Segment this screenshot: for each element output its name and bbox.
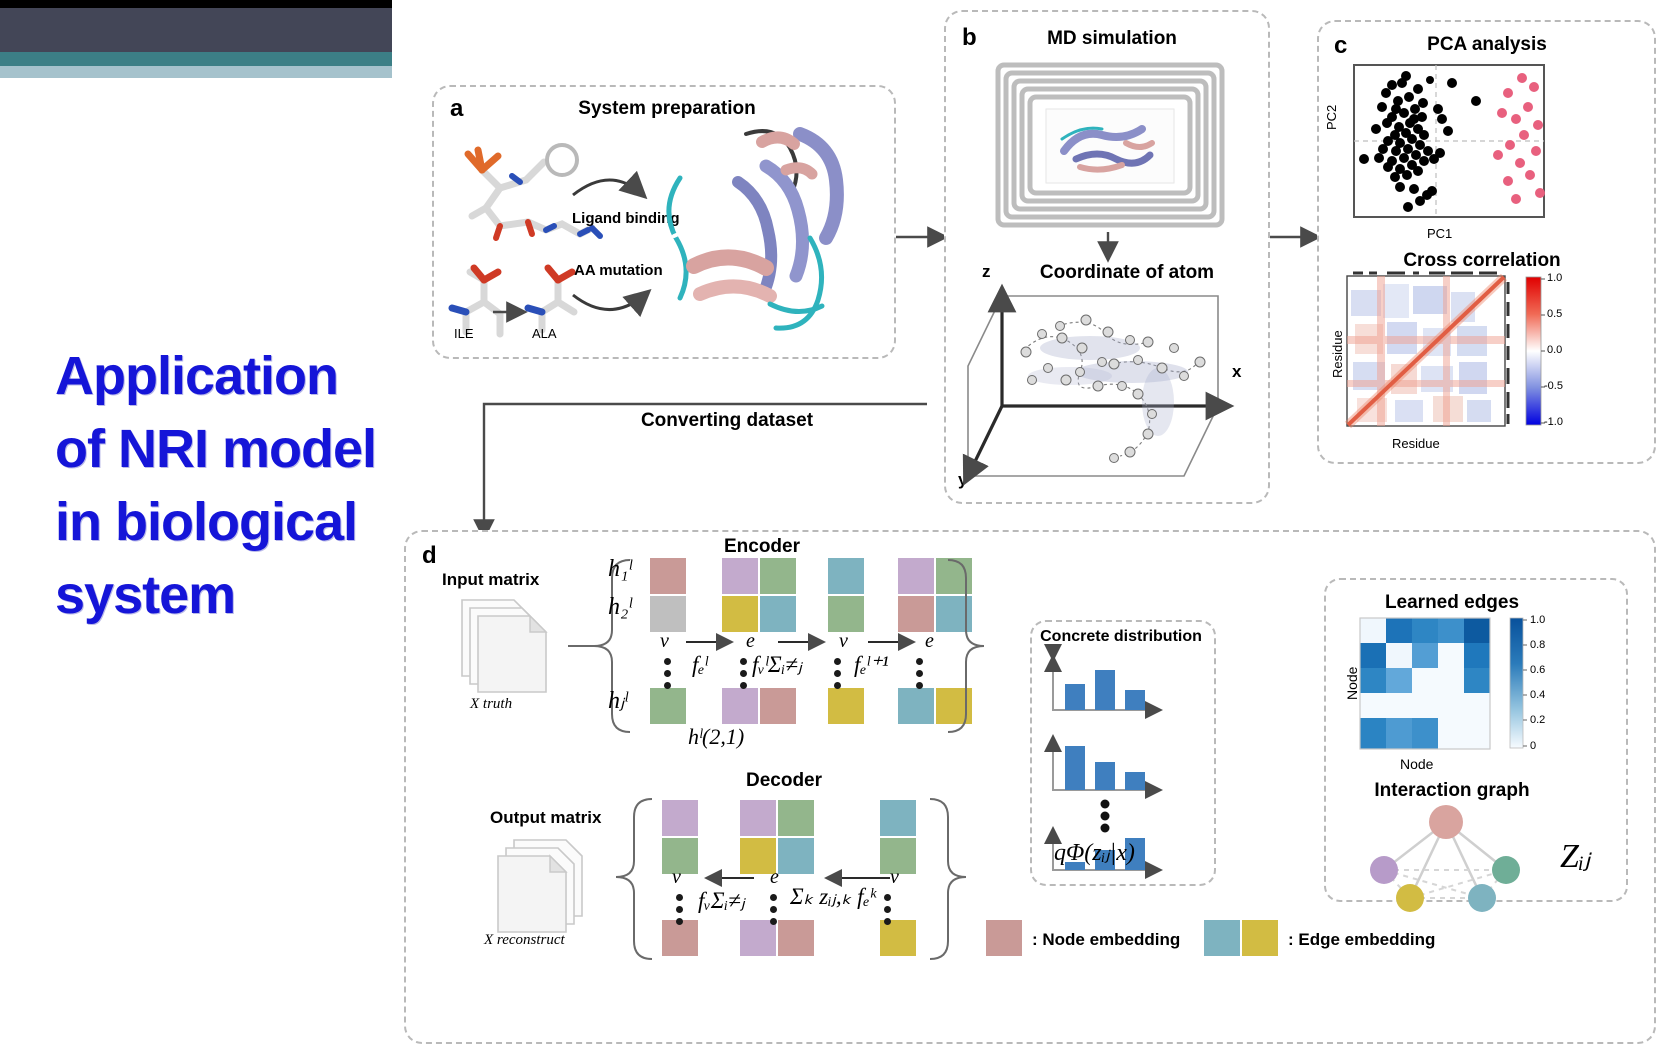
encoder-hj-label: hⱼˡ	[608, 686, 627, 715]
encoder-edge-block-2d	[760, 596, 796, 632]
legend-edge-swatch-2	[1242, 920, 1278, 956]
protein-ribbon-structure	[650, 118, 880, 348]
navy-bar	[0, 8, 392, 52]
concrete-distribution-title: Concrete distribution	[1030, 628, 1212, 646]
coordinate-3d-box	[962, 276, 1252, 496]
le-tick-2: 0.8	[1530, 639, 1545, 651]
encoder-edge-block-2f	[760, 688, 796, 724]
encoder-edge-block-4a	[898, 558, 934, 594]
light-blue-bar	[0, 66, 392, 78]
encoder-edge-embedding-label: hˡ(2,1)	[688, 724, 744, 750]
decoder-right-brace	[926, 795, 976, 965]
encoder-node-block-3b	[828, 596, 864, 632]
slide-decoration-bars	[0, 0, 392, 78]
encoder-title: Encoder	[682, 536, 842, 558]
encoder-flow-v1: v	[660, 630, 669, 653]
decoder-left-brace	[610, 795, 670, 965]
ala-label: ALA	[532, 326, 557, 341]
decoder-op-sum: Σₖ zᵢⱼ,ₖ fₑᵏ	[790, 884, 876, 910]
legend-node-swatch	[986, 920, 1022, 956]
encoder-edge-block-2b	[760, 558, 796, 594]
panel-b-letter: b	[962, 24, 977, 52]
encoder-h2-label: h₂ˡ	[608, 594, 632, 621]
le-tick-3: 0.6	[1530, 664, 1545, 676]
cross-xlabel: Residue	[1392, 436, 1440, 451]
pca-xlabel: PC1	[1427, 226, 1452, 241]
le-tick-6: 0	[1530, 740, 1536, 752]
encoder-edge-block-4c	[898, 596, 934, 632]
decoder-dots-3	[884, 894, 891, 930]
ile-label: ILE	[454, 326, 474, 341]
converting-dataset-label: Converting dataset	[607, 410, 847, 432]
input-matrix-stack-icon	[454, 592, 574, 702]
decoder-edge-block-2a	[740, 800, 776, 836]
panel-a-title: System preparation	[542, 98, 792, 120]
decoder-node-block-1a	[662, 800, 698, 836]
decoder-node-block-3a	[880, 800, 916, 836]
x-truth-label: X truth	[470, 696, 512, 713]
cross-ylabel: Residue	[1330, 330, 1345, 378]
encoder-dots-1	[664, 658, 671, 694]
interaction-graph-title: Interaction graph	[1337, 780, 1567, 802]
learned-edges-colorbar	[1510, 618, 1534, 750]
cross-correlation-title: Cross correlation	[1347, 250, 1617, 272]
encoder-dots-2	[740, 658, 747, 694]
cc-tick-3: 0.0	[1547, 344, 1562, 356]
encoder-op-fe: fₑˡ	[692, 652, 708, 678]
encoder-op-fv: fᵥˡΣᵢ≠ⱼ	[752, 652, 802, 678]
solvated-system-box	[984, 55, 1244, 240]
decoder-title: Decoder	[704, 770, 864, 792]
output-matrix-stack-icon	[490, 832, 620, 942]
panel-c-letter: c	[1334, 32, 1347, 60]
slide-title: Application of NRI model in biological s…	[55, 340, 395, 632]
concrete-distribution-barcharts	[1047, 652, 1197, 842]
decoder-flow-v1: v	[672, 866, 681, 889]
output-matrix-label: Output matrix	[490, 808, 601, 828]
legend-edge-swatch-1	[1204, 920, 1240, 956]
teal-bar	[0, 52, 392, 66]
encoder-dots-4	[916, 658, 923, 694]
zij-label: Zᵢⱼ	[1560, 836, 1590, 876]
cc-tick-5: -1.0	[1544, 416, 1563, 428]
encoder-dots-3	[834, 658, 841, 694]
encoder-node-block-3a	[828, 558, 864, 594]
learned-edges-heatmap	[1360, 618, 1500, 750]
le-tick-1: 1.0	[1530, 614, 1545, 626]
interaction-graph	[1354, 802, 1534, 912]
decoder-op-fv: fᵥΣᵢ≠ⱼ	[698, 888, 745, 914]
pca-scatter-plot	[1352, 63, 1552, 223]
decoder-dots-2	[770, 894, 777, 930]
learned-edges-xlabel: Node	[1400, 756, 1433, 772]
cc-tick-4: -0.5	[1544, 380, 1563, 392]
decoder-edge-block-2f	[778, 920, 814, 956]
learned-edges-title: Learned edges	[1352, 592, 1552, 614]
encoder-op-fe-next: fₑˡ⁺¹	[854, 652, 889, 678]
decoder-dots-1	[676, 894, 683, 930]
legend-node-label: : Node embedding	[1032, 930, 1180, 950]
encoder-h1-label: h₁ˡ	[608, 556, 632, 583]
cc-tick-1: 1.0	[1547, 272, 1562, 284]
panel-a-letter: a	[450, 95, 463, 123]
panel-b-title: MD simulation	[1002, 28, 1222, 50]
concrete-formula: qΦ(zᵢⱼ|x)	[1054, 838, 1135, 867]
legend-edge-label: : Edge embedding	[1288, 930, 1435, 950]
cc-tick-2: 0.5	[1547, 308, 1562, 320]
encoder-edge-block-2a	[722, 558, 758, 594]
cross-correlation-heatmap	[1347, 276, 1517, 431]
x-reconstruct-label: X reconstruct	[484, 932, 565, 949]
encoder-node-block-1b	[650, 596, 686, 632]
panel-c-title: PCA analysis	[1377, 34, 1597, 56]
encoder-node-block-1a	[650, 558, 686, 594]
encoder-edge-block-2c	[722, 596, 758, 632]
pca-ylabel: PC2	[1324, 105, 1339, 130]
learned-edges-ylabel: Node	[1344, 667, 1360, 700]
figure-canvas: a System preparation	[392, 0, 1678, 1057]
top-black-bar	[0, 0, 392, 8]
le-tick-4: 0.4	[1530, 689, 1545, 701]
decoder-edge-block-2b	[778, 800, 814, 836]
input-matrix-label: Input matrix	[442, 570, 539, 590]
panel-d-letter: d	[422, 542, 437, 570]
encoder-right-brace	[944, 556, 994, 736]
le-tick-5: 0.2	[1530, 714, 1545, 726]
